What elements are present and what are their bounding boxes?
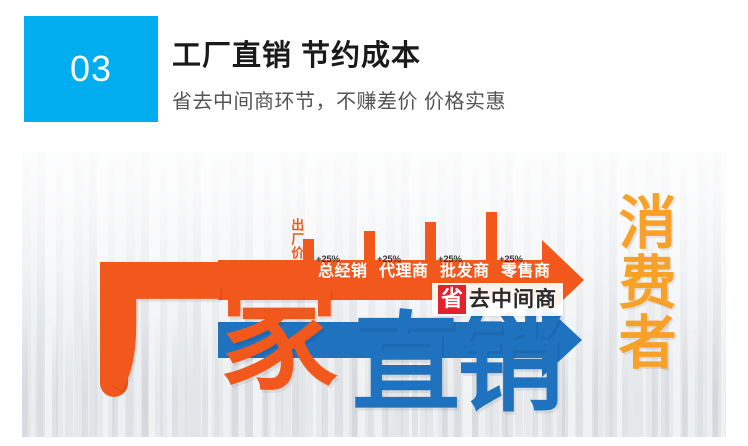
- skip-middleman-badge: 省 去中间商: [432, 283, 563, 316]
- section-number-badge: 03: [24, 16, 158, 122]
- channel-label-2: 批发商: [440, 264, 490, 280]
- bar-2: [425, 222, 436, 264]
- headline-direct-sale: 直销: [352, 310, 560, 418]
- headline-manufacturer: 厂家: [108, 280, 332, 398]
- factory-price-label: 出厂价: [290, 218, 303, 260]
- channel-label-1: 代理商: [379, 264, 429, 280]
- consumer-label: 消费者: [614, 192, 670, 372]
- skip-middleman-highlight: 省: [438, 285, 466, 314]
- page-subtitle: 省去中间商环节，不赚差价 价格实惠: [172, 92, 506, 112]
- markup-bar-chart: +25% +25% +25% +25%: [303, 194, 563, 264]
- page-title: 工厂直销 节约成本: [172, 42, 421, 71]
- hero-infographic: +25% +25% +25% +25% 出厂价 总经销 代理商 批发商 零售商 …: [22, 152, 726, 437]
- bar-1: [364, 231, 375, 264]
- bar-0: [303, 239, 314, 264]
- channel-label-3: 零售商: [501, 264, 551, 280]
- skip-middleman-text: 去中间商: [469, 289, 557, 310]
- section-header: 03 工厂直销 节约成本 省去中间商环节，不赚差价 价格实惠: [0, 0, 748, 146]
- promo-page: 03 工厂直销 节约成本 省去中间商环节，不赚差价 价格实惠 +25% +25%: [0, 0, 748, 446]
- section-number: 03: [70, 51, 112, 87]
- bar-3: [486, 212, 497, 264]
